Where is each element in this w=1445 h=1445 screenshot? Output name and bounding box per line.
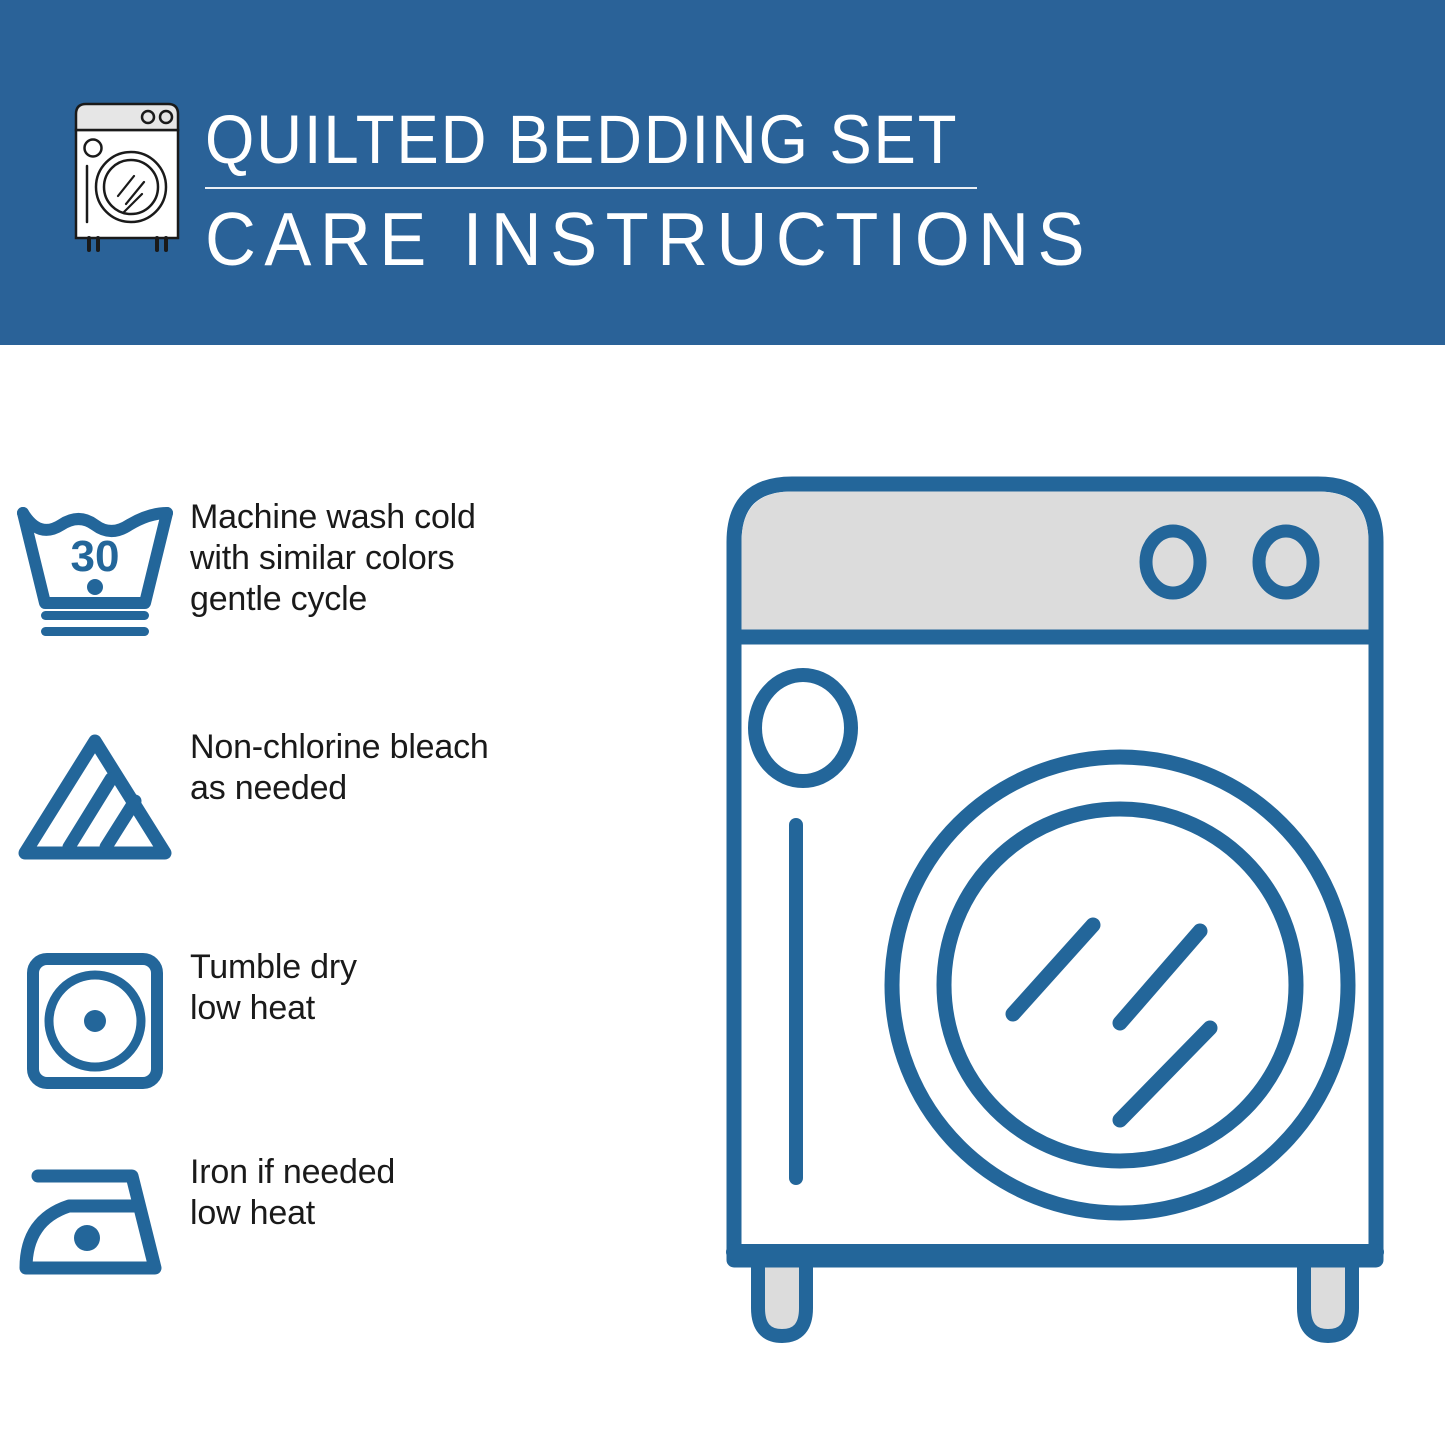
care-line: Non-chlorine bleach xyxy=(190,727,489,768)
care-instruction-list: 30 Machine wash cold with similar colors… xyxy=(0,345,700,1445)
care-line: Tumble dry xyxy=(190,947,357,988)
care-line: low heat xyxy=(190,1193,395,1234)
care-text-bleach: Non-chlorine bleach as needed xyxy=(190,725,489,809)
care-line: as needed xyxy=(190,768,489,809)
care-row-tumble-dry: Tumble dry low heat xyxy=(0,945,700,1095)
iron-low-heat-icon xyxy=(0,1150,190,1290)
care-instructions-page: QUILTED BEDDING SET CARE INSTRUCTIONS 30… xyxy=(0,0,1445,1445)
care-text-tumble-dry: Tumble dry low heat xyxy=(190,945,357,1029)
care-line: low heat xyxy=(190,988,357,1029)
tumble-dry-low-icon xyxy=(0,945,190,1095)
page-title: QUILTED BEDDING SET xyxy=(205,100,941,180)
wash-temperature-value: 30 xyxy=(71,532,120,581)
care-row-bleach: Non-chlorine bleach as needed xyxy=(0,725,700,865)
header-banner: QUILTED BEDDING SET CARE INSTRUCTIONS xyxy=(0,0,1445,345)
care-text-wash: Machine wash cold with similar colors ge… xyxy=(190,495,476,620)
title-divider xyxy=(205,187,977,189)
page-subtitle: CARE INSTRUCTIONS xyxy=(205,195,957,283)
care-text-iron: Iron if needed low heat xyxy=(190,1150,395,1234)
care-row-iron: Iron if needed low heat xyxy=(0,1150,700,1290)
wash-tub-30-icon: 30 xyxy=(0,495,190,645)
control-panel xyxy=(742,492,1369,631)
care-line: with similar colors xyxy=(190,538,476,579)
large-washing-machine-illustration xyxy=(720,470,1410,1370)
non-chlorine-bleach-triangle-icon xyxy=(0,725,190,865)
care-row-wash: 30 Machine wash cold with similar colors… xyxy=(0,495,700,645)
care-line: gentle cycle xyxy=(190,579,476,620)
care-line: Iron if needed xyxy=(190,1152,395,1193)
washing-machine-icon xyxy=(62,100,192,252)
header-title-block: QUILTED BEDDING SET CARE INSTRUCTIONS xyxy=(205,100,1005,283)
care-line: Machine wash cold xyxy=(190,497,476,538)
